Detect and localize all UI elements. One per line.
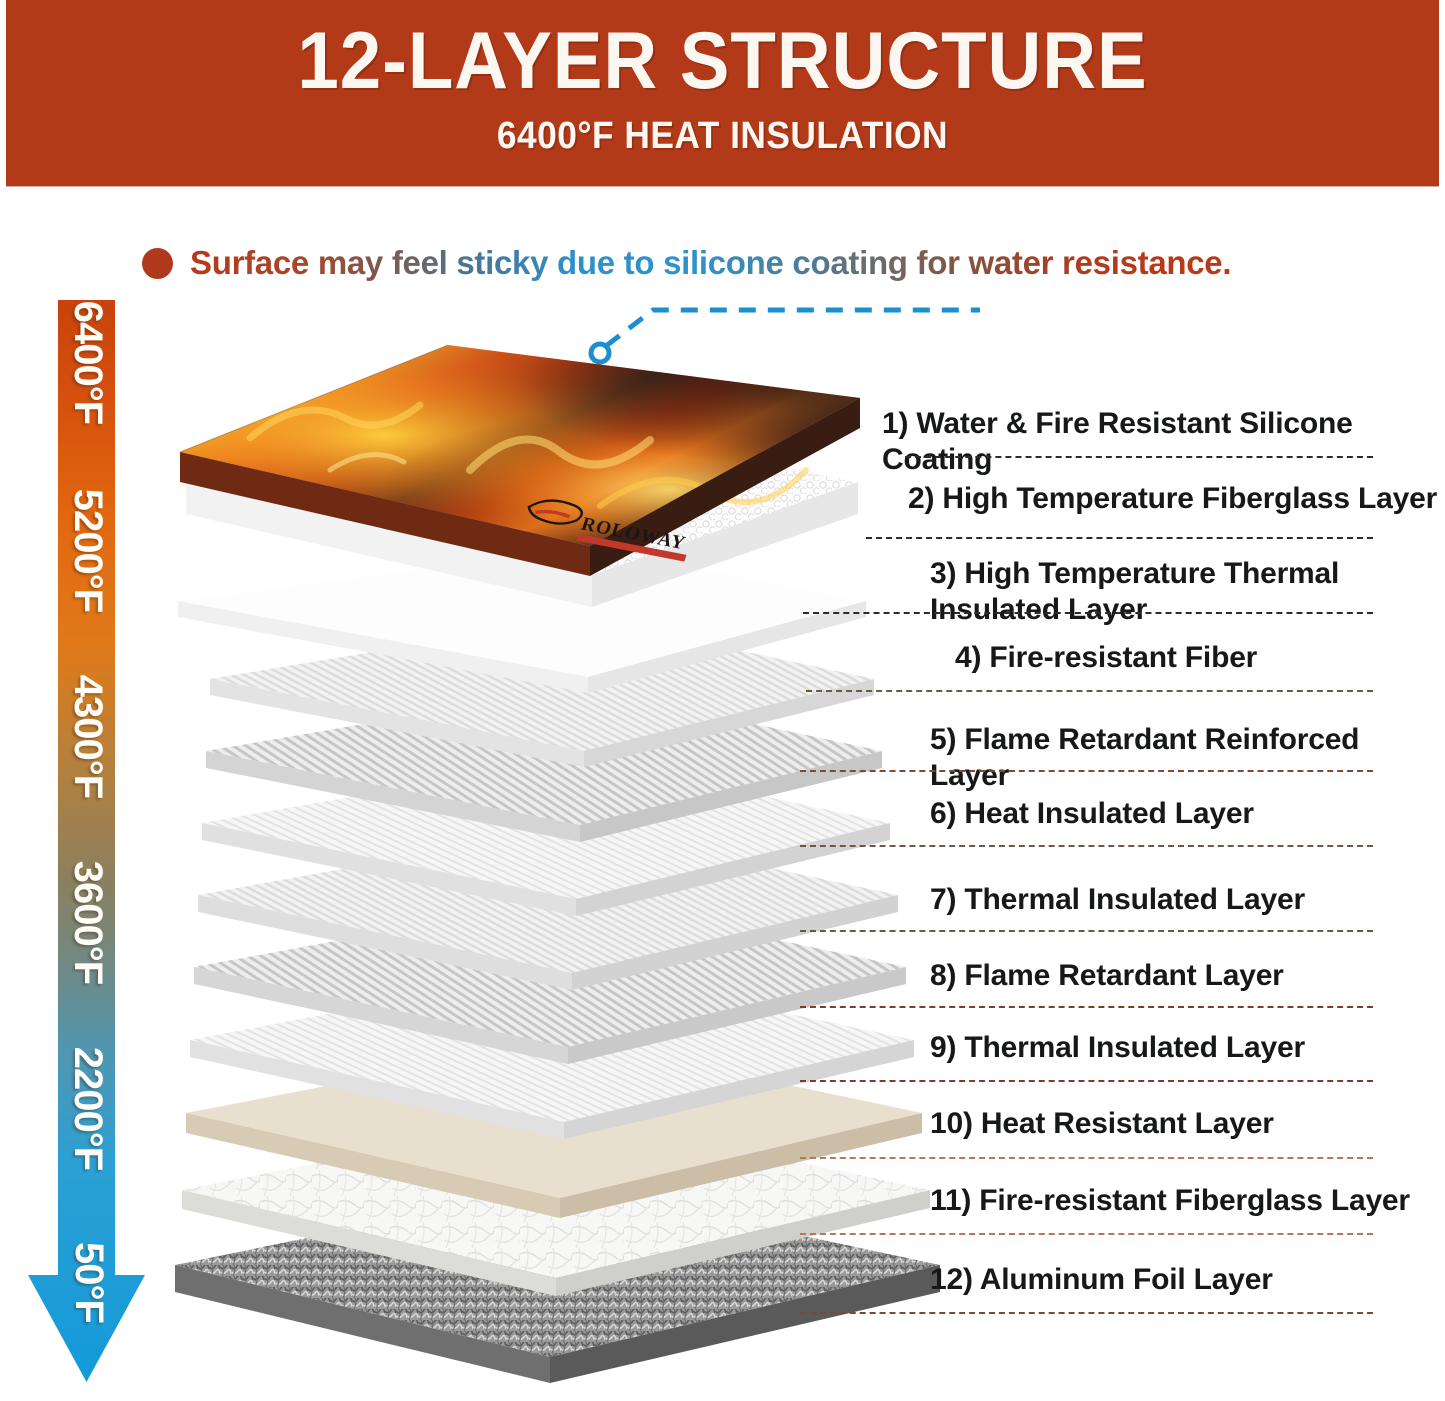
layer-label-7: 7) Thermal Insulated Layer <box>930 882 1305 918</box>
layer-label-1: 1) Water & Fire Resistant Silicone Coati… <box>882 406 1445 478</box>
layer-label-2: 2) High Temperature Fiberglass Layer <box>908 481 1437 517</box>
layer-leader-3 <box>803 612 1373 614</box>
layer-leader-8 <box>800 1006 1373 1008</box>
layer-label-8: 8) Flame Retardant Layer <box>930 958 1284 994</box>
layer-label-list: 1) Water & Fire Resistant Silicone Coati… <box>0 0 1445 1401</box>
layer-leader-12 <box>800 1312 1373 1314</box>
layer-leader-1 <box>905 456 1373 458</box>
layer-leader-7 <box>800 930 1373 932</box>
layer-leader-11 <box>800 1233 1373 1235</box>
layer-label-9: 9) Thermal Insulated Layer <box>930 1030 1305 1066</box>
layer-label-4: 4) Fire-resistant Fiber <box>955 640 1257 676</box>
layer-leader-4 <box>806 690 1373 692</box>
layer-label-10: 10) Heat Resistant Layer <box>930 1106 1274 1142</box>
layer-label-3: 3) High Temperature Thermal Insulated La… <box>930 556 1339 628</box>
layer-label-12: 12) Aluminum Foil Layer <box>930 1262 1273 1298</box>
layer-leader-10 <box>800 1157 1373 1159</box>
layer-leader-6 <box>800 845 1373 847</box>
layer-leader-5 <box>800 770 1373 772</box>
layer-leader-9 <box>800 1080 1373 1082</box>
layer-label-6: 6) Heat Insulated Layer <box>930 796 1254 832</box>
layer-leader-2 <box>866 537 1373 539</box>
layer-label-11: 11) Fire-resistant Fiberglass Layer <box>930 1183 1410 1219</box>
layer-label-5: 5) Flame Retardant Reinforced Layer <box>930 722 1445 794</box>
